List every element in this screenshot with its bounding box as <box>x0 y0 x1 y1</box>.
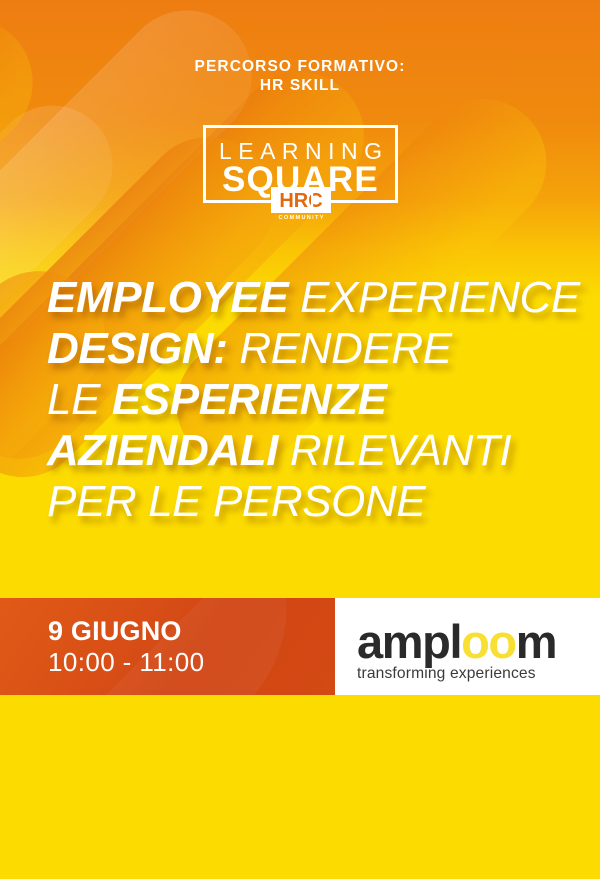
headline-line-2: DESIGN: RENDERE <box>47 323 577 374</box>
headline-word-rilevanti: RILEVANTI <box>290 426 511 475</box>
eyebrow-line-1: PERCORSO FORMATIVO: <box>0 57 600 76</box>
amploom-part-1: ampl <box>357 615 461 668</box>
amploom-wordmark: amploom <box>357 620 582 664</box>
headline-word-employee: EMPLOYEE <box>47 273 288 322</box>
hrc-community-label: COMMUNITY <box>271 215 331 222</box>
eyebrow-line-2: HR SKILL <box>0 76 600 95</box>
headline-line-1: EMPLOYEE EXPERIENCE <box>47 272 577 323</box>
amploom-logo: amploom transforming experiences <box>357 620 582 683</box>
hrc-mark-icon: HRC <box>271 187 331 213</box>
headline-word-rendere: RENDERE <box>239 324 451 373</box>
headline-line-3: LE ESPERIENZE <box>47 374 577 425</box>
amploom-accent-oo: oo <box>461 615 516 668</box>
headline-word-esperienze: ESPERIENZE <box>112 375 387 424</box>
headline-word-experience: EXPERIENCE <box>300 273 580 322</box>
footer-bar: 9 GIUGNO 10:00 - 11:00 amploom transform… <box>0 598 600 695</box>
headline-line-5: PER LE PERSONE <box>47 476 577 527</box>
event-date-text: 9 GIUGNO 10:00 - 11:00 <box>48 615 205 678</box>
page-title: EMPLOYEE EXPERIENCE DESIGN: RENDERE LE E… <box>47 272 577 527</box>
headline-word-le: LE <box>47 375 100 424</box>
svg-text:HRC: HRC <box>279 190 322 212</box>
sponsor-logo-panel: amploom transforming experiences <box>335 598 600 695</box>
event-date: 9 GIUGNO <box>48 615 205 647</box>
poster-canvas: PERCORSO FORMATIVO: HR SKILL LEARNING SQ… <box>0 0 600 879</box>
headline-word-design: DESIGN: <box>47 324 228 373</box>
headline-word-aziendali: AZIENDALI <box>47 426 278 475</box>
amploom-part-2: m <box>516 615 556 668</box>
event-date-panel: 9 GIUGNO 10:00 - 11:00 <box>0 598 335 695</box>
event-time: 10:00 - 11:00 <box>48 647 205 678</box>
headline-phrase-per-le-persone: PER LE PERSONE <box>47 477 425 526</box>
headline-line-4: AZIENDALI RILEVANTI <box>47 425 577 476</box>
hrc-community-badge: HRC COMMUNITY <box>271 187 331 222</box>
eyebrow-label: PERCORSO FORMATIVO: HR SKILL <box>0 57 600 95</box>
